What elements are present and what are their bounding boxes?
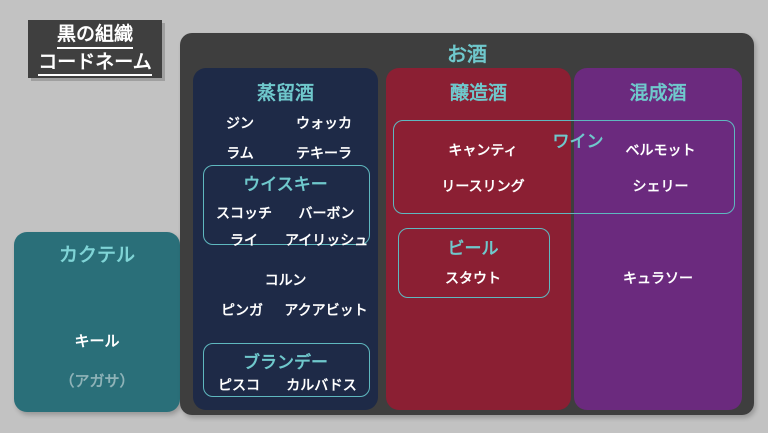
item-korn: コルン (203, 270, 368, 290)
item-pisco: ピスコ (203, 375, 275, 395)
subgroup-whisky-title: ウイスキー (203, 170, 368, 195)
item-tequila: テキーラ (278, 143, 370, 163)
item-sherry: シェリー (588, 176, 733, 196)
item-pinga: ピンガ (203, 300, 281, 320)
diagram-canvas: 黒の組織 コードネーム カクテル キール （アガサ） お酒 蒸留酒 ジン ウォッ… (0, 0, 768, 433)
subgroup-brandy-title: ブランデー (203, 348, 368, 373)
title-line-2: コードネーム (38, 51, 151, 76)
title-plate: 黒の組織 コードネーム (28, 20, 162, 78)
column-brewed-title: 醸造酒 (386, 78, 571, 105)
subgroup-beer-title: ビール (398, 234, 548, 259)
item-aquavit: アクアビット (281, 300, 371, 320)
title-line-1: 黒の組織 (57, 23, 133, 48)
column-distilled-title: 蒸留酒 (193, 78, 378, 105)
item-stout: スタウト (398, 268, 548, 288)
panel-cocktail-title: カクテル (14, 240, 180, 267)
item-chianti: キャンティ (398, 140, 568, 160)
column-mixed-title: 混成酒 (574, 78, 742, 105)
item-vermouth: ベルモット (588, 140, 733, 160)
item-rye: ライ (203, 230, 285, 250)
item-curacao: キュラソー (574, 268, 742, 288)
item-scotch: スコッチ (203, 203, 285, 223)
item-vodka: ウォッカ (278, 113, 370, 133)
item-calvados: カルバドス (275, 375, 368, 395)
panel-liquor-title: お酒 (180, 38, 754, 67)
item-rum: ラム (205, 143, 275, 163)
item-irish: アイリッシュ (285, 230, 368, 250)
item-riesling: リースリング (398, 176, 568, 196)
item-bourbon: バーボン (285, 203, 368, 223)
item-gin: ジン (205, 113, 275, 133)
cocktail-note-agasa: （アガサ） (14, 370, 180, 391)
item-kir: キール (14, 330, 180, 351)
